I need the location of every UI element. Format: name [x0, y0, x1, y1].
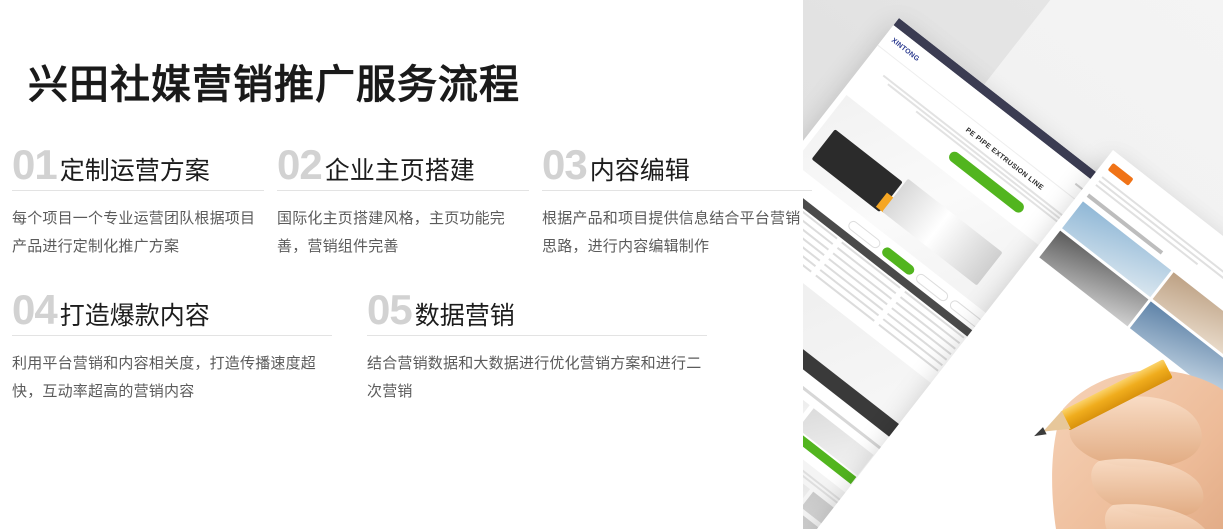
step-title: 企业主页搭建 [325, 154, 475, 188]
step-item-01[interactable]: 01 定制运营方案 每个项目一个专业运营团队根据项目产品进行定制化推广方案 [12, 145, 264, 261]
step-item-04[interactable]: 04 打造爆款内容 利用平台营销和内容相关度，打造传播速度超快，互动率超高的营销… [12, 290, 332, 406]
step-title: 数据营销 [415, 299, 515, 333]
step-number: 02 [277, 145, 322, 185]
step-item-03[interactable]: 03 内容编辑 根据产品和项目提供信息结合平台营销思路，进行内容编辑制作 [542, 145, 812, 261]
step-title: 内容编辑 [590, 154, 690, 188]
promo-banner: XINTONG PE PIPE EXTRUSION LINE [0, 0, 1223, 529]
step-item-02[interactable]: 02 企业主页搭建 国际化主页搭建风格，主页功能完善，营销组件完善 [277, 145, 529, 261]
step-number: 01 [12, 145, 57, 185]
step-number: 05 [367, 290, 412, 330]
step-header: 04 打造爆款内容 [12, 290, 332, 336]
step-title: 定制运营方案 [60, 154, 210, 188]
step-header: 03 内容编辑 [542, 145, 812, 191]
step-header: 01 定制运营方案 [12, 145, 264, 191]
step-description: 每个项目一个专业运营团队根据项目产品进行定制化推广方案 [12, 205, 264, 261]
step-number: 04 [12, 290, 57, 330]
step-title: 打造爆款内容 [60, 299, 210, 333]
step-header: 05 数据营销 [367, 290, 707, 336]
content-column: 兴田社媒营销推广服务流程 01 定制运营方案 每个项目一个专业运营团队根据项目产… [0, 0, 900, 529]
step-description: 根据产品和项目提供信息结合平台营销思路，进行内容编辑制作 [542, 205, 812, 261]
page-title: 兴田社媒营销推广服务流程 [28, 52, 520, 110]
step-number: 03 [542, 145, 587, 185]
step-description: 利用平台营销和内容相关度，打造传播速度超快，互动率超高的营销内容 [12, 350, 332, 406]
step-header: 02 企业主页搭建 [277, 145, 529, 191]
step-item-05[interactable]: 05 数据营销 结合营销数据和大数据进行优化营销方案和进行二次营销 [367, 290, 707, 406]
step-description: 结合营销数据和大数据进行优化营销方案和进行二次营销 [367, 350, 707, 406]
step-description: 国际化主页搭建风格，主页功能完善，营销组件完善 [277, 205, 529, 261]
